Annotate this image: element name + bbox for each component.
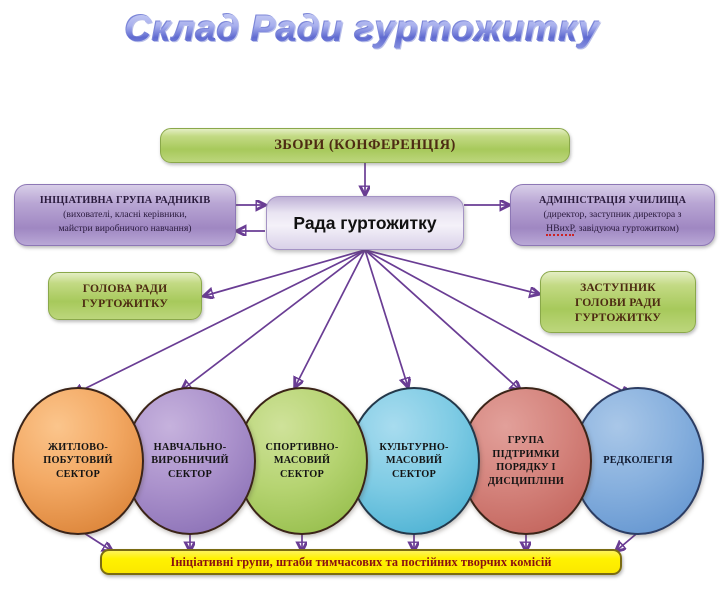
edge-council-deputy: [365, 250, 539, 294]
deputy-line1: ЗАСТУПНИК: [580, 281, 656, 294]
sector-discipline-line3: ПОРЯДКУ І: [496, 462, 556, 473]
deputy-line2: ГОЛОВИ РАДИ: [575, 296, 661, 309]
administration-line1: (директор, заступник директора з: [511, 208, 714, 222]
sector-culture-line2: МАСОВИЙ: [386, 455, 442, 466]
administration-misspelled-word: НВихР: [546, 223, 574, 236]
deputy-line3: ГУРТОЖИТКУ: [575, 311, 661, 324]
sector-education-line1: НАВЧАЛЬНО-: [154, 442, 227, 453]
chairman-line1: ГОЛОВА РАДИ: [83, 282, 168, 295]
sector-education-line2: ВИРОБНИЧИЙ: [151, 455, 229, 466]
diagram-canvas: Склад Ради гуртожитку: [0, 0, 724, 600]
node-assembly[interactable]: ЗБОРИ (КОНФЕРЕНЦІЯ): [160, 128, 570, 163]
sector-education-line3: СЕКТОР: [168, 469, 212, 480]
sector-circle-housing[interactable]: ЖИТЛОВО- ПОБУТОВИЙ СЕКТОР: [12, 387, 144, 535]
sector-housing-line2: ПОБУТОВИЙ: [43, 455, 112, 466]
assembly-label: ЗБОРИ (КОНФЕРЕНЦІЯ): [161, 137, 569, 154]
sector-discipline-line4: ДИСЦИПЛІНИ: [488, 476, 564, 487]
bottom-bar-label: Ініціативні групи, штаби тимчасових та п…: [102, 555, 620, 570]
node-council[interactable]: Рада гуртожитку: [266, 196, 464, 250]
chairman-line2: ГУРТОЖИТКУ: [82, 297, 168, 310]
sector-culture-line3: СЕКТОР: [392, 469, 436, 480]
node-deputy-chairman[interactable]: ЗАСТУПНИК ГОЛОВИ РАДИ ГУРТОЖИТКУ: [540, 271, 696, 333]
edge-council-sector-education: [182, 250, 365, 390]
sector-culture-line1: КУЛЬТУРНО-: [379, 442, 448, 453]
edge-council-sector-sport: [295, 250, 365, 387]
sector-discipline-line1: ГРУПА: [508, 435, 545, 446]
initiative-group-line2: майстри виробничого навчання): [15, 222, 235, 236]
node-administration[interactable]: АДМІНІСТРАЦІЯ УЧИЛИЩА (директор, заступн…: [510, 184, 715, 246]
initiative-group-heading: ІНІЦІАТИВНА ГРУПА РАДНИКІВ: [15, 194, 235, 208]
sector-housing-line3: СЕКТОР: [56, 469, 100, 480]
sector-sport-line3: СЕКТОР: [280, 469, 324, 480]
node-chairman[interactable]: ГОЛОВА РАДИ ГУРТОЖИТКУ: [48, 272, 202, 320]
edge-council-sector-discipline: [365, 250, 520, 390]
sector-discipline-line2: ПІДТРИМКИ: [492, 449, 559, 460]
sector-sport-line1: СПОРТИВНО-: [265, 442, 338, 453]
sector-editorial-line1: РЕДКОЛЕГІЯ: [579, 454, 697, 468]
node-initiative-group[interactable]: ІНІЦІАТИВНА ГРУПА РАДНИКІВ (вихователі, …: [14, 184, 236, 246]
sector-housing-line1: ЖИТЛОВО-: [48, 442, 108, 453]
sector-sport-line2: МАСОВИЙ: [274, 455, 330, 466]
administration-line2-rest: , завідуюча гуртожитком): [574, 223, 679, 234]
node-bottom-bar[interactable]: Ініціативні групи, штаби тимчасових та п…: [100, 549, 622, 575]
initiative-group-line1: (вихователі, класні керівники,: [15, 208, 235, 222]
administration-heading: АДМІНІСТРАЦІЯ УЧИЛИЩА: [511, 194, 714, 208]
council-label: Рада гуртожитку: [267, 213, 463, 234]
